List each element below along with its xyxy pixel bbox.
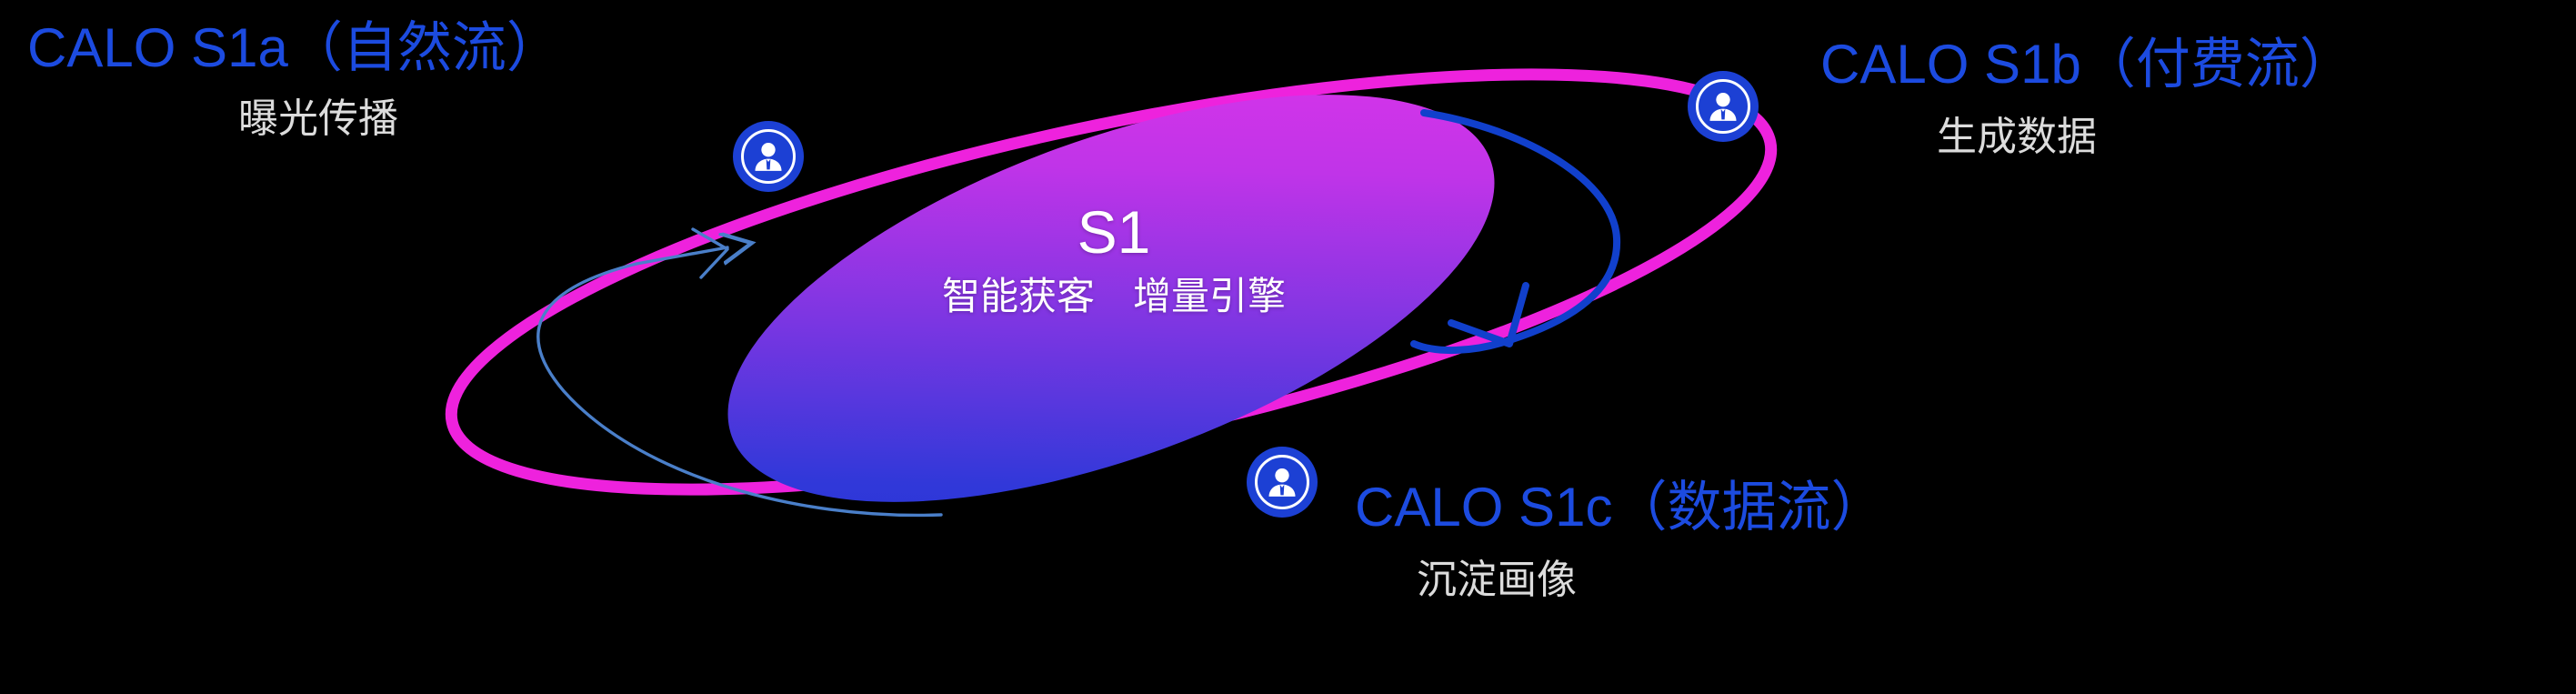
flow-title-s1a: CALO S1a（自然流） <box>27 16 561 79</box>
flow-label-s1a: CALO S1a（自然流） 曝光传播 <box>27 16 561 144</box>
flow-label-s1c: CALO S1c（数据流） 沉淀画像 <box>1355 476 1885 605</box>
flow-label-s1b: CALO S1b（付费流） 生成数据 <box>1820 33 2354 162</box>
flow-title-s1c: CALO S1c（数据流） <box>1355 476 1885 538</box>
diagram-canvas: S1 智能获客 增量引擎 CALO S1a（自然流） 曝光传播 <box>0 0 2576 694</box>
flow-node-s1b[interactable] <box>1688 71 1759 142</box>
flow-node-s1a[interactable] <box>733 121 804 192</box>
flow-subtitle-s1a: 曝光传播 <box>238 96 561 144</box>
user-avatar-icon <box>1264 464 1300 500</box>
flow-node-s1c[interactable] <box>1247 447 1318 518</box>
user-avatar-icon <box>1705 88 1741 125</box>
flow-title-s1b: CALO S1b（付费流） <box>1820 33 2354 96</box>
user-avatar-icon <box>750 138 787 175</box>
flow-subtitle-s1c: 沉淀画像 <box>1417 557 1885 605</box>
flow-subtitle-s1b: 生成数据 <box>1937 114 2354 162</box>
